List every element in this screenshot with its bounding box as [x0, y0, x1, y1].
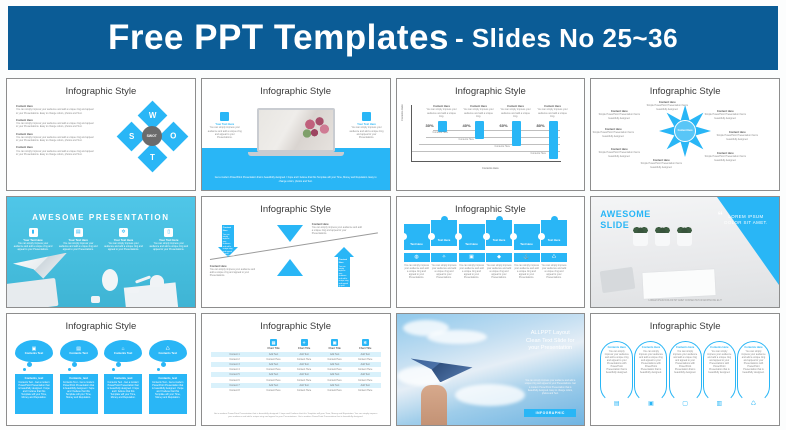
- text-block: Content Here You can simply impress your…: [16, 119, 94, 129]
- cloud-column: ▣ Contents Text Contents_text Contents T…: [15, 340, 53, 414]
- pill-body: You can simply impress your audience and…: [741, 350, 766, 375]
- plant-leaves: [655, 220, 670, 233]
- title-line-1: AWESOME: [600, 209, 651, 220]
- table-header-cell: ✲ Chart Title: [350, 338, 381, 351]
- briefcase-icon: ▮: [29, 228, 38, 237]
- chart-bar: [475, 121, 484, 139]
- swot-letter: W: [148, 111, 156, 120]
- caption-body: You can simply impress your audience and…: [210, 268, 258, 277]
- cloud-tail: [161, 362, 166, 367]
- table-header-cell: ✧ Chart Title: [289, 338, 320, 351]
- laptop-screen: [257, 108, 335, 152]
- arrow-heading: Content Here: [223, 227, 233, 234]
- piece-body: You can simply impress your audience and…: [404, 264, 430, 279]
- camera-icon: ▢: [682, 400, 688, 407]
- share-icon: ✧: [301, 339, 308, 346]
- piece-label: Text Here: [493, 239, 506, 243]
- header-label: Chart Title: [298, 347, 310, 350]
- paper-plane-photo: [13, 253, 67, 279]
- piece-body: You can simply impress your audience and…: [514, 264, 540, 279]
- content-box: Contents_text Contents Text - Get a mode…: [149, 374, 187, 414]
- chart-bar: [549, 121, 558, 159]
- mouse-photo: [102, 269, 118, 291]
- gear-icon: ✲: [119, 228, 128, 237]
- piece-label: Text Here: [465, 243, 478, 247]
- pinwheel-label: Content Here Simple PowerPoint Presentat…: [639, 159, 683, 169]
- piece-label: Text Here: [520, 243, 533, 247]
- window-icon: ▣: [331, 339, 338, 346]
- laptop-mockup: [257, 108, 335, 156]
- puzzle-piece: Text Here: [431, 220, 457, 246]
- box-body: Contents Text - Get a modern PowerPoint …: [18, 381, 50, 400]
- bar-header: Content Here You can simply impress your…: [537, 105, 569, 118]
- slide-title: Infographic Style: [202, 204, 390, 215]
- header-label: Chart Title: [267, 347, 279, 350]
- slide-thumbnail-cloud-bubbles[interactable]: Infographic Style ▣ Contents Text Conten…: [6, 313, 196, 426]
- cloud-bubble: ▣ Contents Text: [15, 340, 53, 362]
- eraser-photo: [127, 288, 139, 293]
- block-body: You can simply impress your audience and…: [16, 122, 94, 128]
- box-body: Contents Text - Get a modern PowerPoint …: [63, 381, 95, 400]
- bar-body: You can simply impress your audience and…: [426, 108, 458, 117]
- bar-header: Content Here You can simply impress your…: [500, 105, 532, 118]
- plant-leaves: [677, 220, 692, 233]
- puzzle-knob: [496, 216, 503, 223]
- label-body: Simple PowerPoint Presentation that is b…: [597, 113, 641, 119]
- slide-thumbnail-bar-chart[interactable]: Infographic Style Contents Here Contents…: [396, 78, 586, 191]
- swot-diagram: W S O T SWOT: [121, 105, 183, 167]
- puzzle-knob: [441, 216, 448, 223]
- cloud-tail-small: [23, 368, 26, 371]
- column-body: You can simply impress your audience and…: [149, 242, 189, 251]
- puzzle-notch: [538, 233, 545, 240]
- chart-y-axis: [411, 105, 412, 161]
- piece-body: You can simply impress your audience and…: [541, 264, 567, 279]
- column-body: You can simply impress your audience and…: [13, 242, 53, 251]
- data-table: ▤ Chart Title ✧ Chart Title ▣ Chart Titl…: [211, 338, 381, 393]
- table-cell: Content Here: [289, 388, 320, 393]
- pill-row: Contents Here You can simply impress you…: [600, 341, 770, 403]
- cloud-bubble: ♺ Contents Text: [149, 340, 187, 362]
- cloud-label: Contents Text: [159, 352, 177, 356]
- bag-icon: ▤: [74, 228, 83, 237]
- keyboard-photo: [6, 278, 59, 308]
- arrow-head: [334, 247, 354, 257]
- flower-photo: [301, 114, 331, 140]
- pill-shape: Contents Here You can simply impress you…: [600, 341, 633, 403]
- cloud-bubble: ▤ Contents Text: [60, 340, 98, 362]
- right-column: Your Text Here You can simply impress yo…: [350, 112, 384, 139]
- pill-column: Contents Here You can simply impress you…: [600, 341, 633, 403]
- book-icon: ▯: [164, 228, 173, 237]
- arrow-heading: Content Here: [339, 259, 349, 266]
- slide-thumbnail-grid: Infographic Style Content Here You can s…: [6, 78, 780, 426]
- pill-column: Contents Here You can simply impress you…: [634, 341, 667, 403]
- block-body: You can simply impress your audience and…: [16, 150, 94, 156]
- puzzle-piece: Text Here: [404, 224, 430, 250]
- feature-columns: ▮ Your Text Here You can simply impress …: [13, 228, 189, 252]
- bag-icon: ▥: [716, 400, 722, 407]
- laptop-base: [248, 152, 344, 156]
- pinwheel-label: Content Here Simple PowerPoint Presentat…: [591, 128, 635, 138]
- text-block: Content Here You can simply impress your…: [16, 146, 94, 156]
- cloud-column: ⌂ Contents Text Contents_text Contents T…: [104, 340, 142, 414]
- slide-thumbnail-awesome-presentation[interactable]: AWESOME PRESENTATION ▮ Your Text Here Yo…: [6, 196, 196, 309]
- chart-x-axis: [411, 161, 561, 162]
- pill-body: You can simply impress your audience and…: [604, 350, 629, 375]
- cloud-tail: [116, 362, 121, 367]
- chart-gridline: [419, 144, 560, 145]
- puzzle-notch: [455, 233, 462, 240]
- chart-bar: [512, 121, 521, 146]
- label-body: Simple PowerPoint Presentation that is b…: [597, 151, 641, 157]
- piece-body: You can simply impress your audience and…: [431, 264, 457, 279]
- cloud-row: ▣ Contents Text Contents_text Contents T…: [15, 340, 187, 414]
- header-label: Chart Title: [359, 347, 371, 350]
- label-body: Simple PowerPoint Presentation that is b…: [703, 155, 747, 161]
- bar-value-label: 40%: [463, 123, 471, 128]
- cloud-tail: [72, 362, 77, 367]
- table-row: Content 8 Content Here Content Here Cont…: [211, 388, 381, 393]
- cloud-tail-small: [112, 368, 115, 371]
- magnet-photo: [150, 275, 164, 287]
- puzzle-piece: Text Here: [514, 224, 540, 250]
- label-body: Simple PowerPoint Presentation that is b…: [715, 134, 759, 140]
- recycle-icon: ♺: [541, 253, 567, 262]
- slide-title: AWESOME SLIDE: [600, 209, 651, 231]
- quote-text: LOREM IPSUM DOLOR SIT AMET.: [719, 214, 773, 227]
- pill-body: You can simply impress your audience and…: [638, 350, 663, 375]
- table-cell: Content 8: [211, 388, 259, 393]
- slide-footer-text: LOREM IPSUM DOLOR SIT AMET CONSECTETUR A…: [591, 300, 779, 302]
- puzzle-notch: [428, 233, 435, 240]
- cloud-tail: [27, 362, 32, 367]
- slide-footer-text: Get a modern PowerPoint Presentation tha…: [212, 413, 380, 419]
- slide-title: Infographic Style: [397, 86, 585, 97]
- banner-title: Free PPT Templates: [108, 18, 449, 58]
- puzzle-notch: [400, 233, 407, 240]
- column-body: You can simply impress your audience and…: [104, 242, 144, 251]
- recycle-icon: ♺: [751, 400, 756, 407]
- text-block: Content Here You can simply impress your…: [16, 133, 94, 143]
- slide-title: Infographic Style: [397, 204, 585, 215]
- text-block: Content Here You can simply impress your…: [16, 105, 94, 115]
- pill-column: Contents Here You can simply impress you…: [737, 341, 770, 403]
- puzzle-piece: Text Here: [486, 220, 512, 246]
- column-body: You can simply impress your audience and…: [350, 126, 384, 138]
- pinwheel-label: Content Here Simple PowerPoint Presentat…: [703, 110, 747, 120]
- slide-gallery-page: Free PPT Templates - Slides No 25~36 Inf…: [0, 0, 786, 430]
- feature-column: ▮ Your Text Here You can simply impress …: [13, 228, 53, 252]
- arrow-body: You can simply impress your audience and…: [339, 266, 349, 290]
- cloud-column: ▤ Contents Text Contents_text Contents T…: [60, 340, 98, 414]
- slide-footer-text: Get a modern PowerPoint Presentation tha…: [212, 176, 380, 182]
- slide-title: Infographic Style: [202, 321, 390, 332]
- piece-label: Text Here: [438, 239, 451, 243]
- chart-gridline: [433, 130, 560, 131]
- box-body: Contents Text - Get a modern PowerPoint …: [107, 381, 139, 400]
- table-cell: Content Here: [319, 388, 350, 393]
- cloud-tail-small: [157, 368, 160, 371]
- table-cell: Content Here: [258, 388, 289, 393]
- feature-column: ▤ Your Text Here You can simply impress …: [58, 228, 98, 252]
- label-body: Simple PowerPoint Presentation that is b…: [703, 113, 747, 119]
- triangle-up: [277, 259, 303, 276]
- share-icon: [362, 112, 371, 121]
- bar-header: Content Here You can simply impress your…: [426, 105, 458, 118]
- bar-value-label: 60%: [500, 123, 508, 128]
- cloud-tail-small: [68, 368, 71, 371]
- slide-title: Infographic Style: [202, 86, 390, 97]
- briefcase-icon: ▤: [614, 400, 620, 407]
- pill-column: Contents Here You can simply impress you…: [703, 341, 736, 403]
- tag-icon: ◆: [486, 253, 512, 262]
- bar-header: Content Here You can simply impress your…: [463, 105, 495, 118]
- triangle-down: [277, 225, 303, 242]
- swot-letter: O: [170, 132, 176, 141]
- pinwheel-label: Content Here Simple PowerPoint Presentat…: [597, 148, 641, 158]
- swot-letter: T: [150, 153, 155, 162]
- block-body: You can simply impress your audience and…: [16, 108, 94, 114]
- header-label: Chart Title: [328, 347, 340, 350]
- content-box: Contents_text Contents Text - Get a mode…: [15, 374, 53, 414]
- slide-headline: ALLPPT Layout Clean Text Slide for your …: [524, 330, 576, 352]
- label-body: Simple PowerPoint Presentation that is b…: [645, 104, 689, 110]
- puzzle-row: Text Here Text Here Text Here Text Here: [404, 224, 569, 250]
- piece-body: You can simply impress your audience and…: [486, 264, 512, 279]
- plant-pot: [655, 231, 670, 246]
- slide-thumbnail-paper-plane-sky[interactable]: ALLPPT Layout Clean Text Slide for your …: [396, 313, 586, 426]
- slide-thumbnail-laptop-photo[interactable]: Infographic Style Your Text Here You can…: [201, 78, 391, 191]
- plant-pot: [677, 231, 692, 246]
- pinwheel-label: Content Here Simple PowerPoint Presentat…: [715, 131, 759, 141]
- puzzle-notch: [483, 233, 490, 240]
- cloud-label: Contents Text: [114, 352, 132, 356]
- gear-icon: ✲: [362, 339, 369, 346]
- slide-title: Infographic Style: [7, 86, 195, 97]
- arrow-right-caption: Content Here You can simply impress your…: [312, 223, 362, 236]
- pill-shape: Contents Here You can simply impress you…: [634, 341, 667, 403]
- anchor-icon: ⚓: [514, 253, 540, 262]
- cloud-column: ♺ Contents Text Contents_text Contents T…: [149, 340, 187, 414]
- pill-body: You can simply impress your audience and…: [673, 350, 698, 375]
- notebook-photo: [643, 269, 716, 299]
- slide-title: Infographic Style: [591, 321, 779, 332]
- chart-gridline: [426, 137, 560, 138]
- content-box: Contents_text Contents Text - Get a mode…: [60, 374, 98, 414]
- infographic-button[interactable]: INFOGRAPHIC: [524, 409, 576, 417]
- globe-icon: ◍: [404, 253, 430, 262]
- puzzle-icon-row: ◍ ✧ ▣ ◆ ⚓ ♺: [404, 253, 569, 262]
- piece-label: Text Here: [548, 239, 561, 243]
- chart-ylabel: Contents Here: [401, 104, 404, 121]
- slide-thumbnail-data-table[interactable]: Infographic Style ▤ Chart Title ✧ Chart …: [201, 313, 391, 426]
- up-arrow-right: Content Here You can simply impress your…: [334, 247, 354, 287]
- caption-body: You can simply impress your audience and…: [312, 226, 362, 235]
- slide-thumbnail-swot-diamond[interactable]: Infographic Style Content Here You can s…: [6, 78, 196, 191]
- pinwheel-label: Content Here Simple PowerPoint Presentat…: [645, 101, 689, 111]
- swot-center-circle: SWOT: [142, 126, 162, 146]
- table-header-row: ▤ Chart Title ✧ Chart Title ▣ Chart Titl…: [211, 338, 381, 351]
- pill-shape: Contents Here You can simply impress you…: [669, 341, 702, 403]
- pill-body: You can simply impress your audience and…: [707, 350, 732, 375]
- swot-threat-diamond: T: [137, 143, 167, 173]
- pinwheel-label: Content Here Simple PowerPoint Presentat…: [703, 152, 747, 162]
- cyan-diagonal-overlay: [717, 197, 779, 285]
- box-body: Contents Text - Get a modern PowerPoint …: [152, 381, 184, 400]
- bar-value-label: 80%: [537, 123, 545, 128]
- pill-column: Contents Here You can simply impress you…: [669, 341, 702, 403]
- down-arrow-left: Content Here You can simply impress your…: [218, 225, 238, 257]
- swot-opportunity-diamond: O: [158, 122, 188, 152]
- bar-caption: Contents Here: [433, 131, 448, 134]
- bar-body: You can simply impress your audience and…: [500, 108, 532, 117]
- bar-body: You can simply impress your audience and…: [463, 108, 495, 117]
- block-body: You can simply impress your audience and…: [16, 136, 94, 142]
- window-icon: ▣: [459, 253, 485, 262]
- swot-letter: S: [129, 132, 134, 141]
- window-icon: ▣: [648, 400, 654, 407]
- bar-caption: Contents Here: [495, 145, 510, 148]
- table-header-cell: ▣ Chart Title: [319, 338, 350, 351]
- slide-thumbnail-puzzle[interactable]: Infographic Style Text Here Text Here Te…: [396, 196, 586, 309]
- puzzle-piece: Text Here: [459, 224, 485, 250]
- slide-title: AWESOME PRESENTATION: [7, 213, 195, 222]
- share-icon: ✧: [431, 253, 457, 262]
- cloud-label: Contents Text: [25, 352, 43, 356]
- puzzle-knob: [551, 216, 558, 223]
- slide-thumbnail-pill-columns[interactable]: Infographic Style Contents Here You can …: [590, 313, 780, 426]
- pen-photo: [135, 276, 151, 284]
- book-icon: ▤: [270, 339, 277, 346]
- table-cell: Content Here: [350, 388, 381, 393]
- cloud-label: Contents Text: [69, 352, 87, 356]
- bar-value-label: 30%: [426, 123, 434, 128]
- content-box: Contents_text Contents Text - Get a mode…: [104, 374, 142, 414]
- slide-thumbnail-awesome-slide[interactable]: AWESOME SLIDE “ LOREM IPSUM DOLOR SIT AM…: [590, 196, 780, 309]
- clip-photo: [91, 296, 100, 303]
- table-header-cell: ▤ Chart Title: [258, 338, 289, 351]
- pinwheel-label: Content Here Simple PowerPoint Presentat…: [597, 110, 641, 120]
- piece-label: Text Here: [410, 243, 423, 247]
- pill-shape: Contents Here You can simply impress you…: [703, 341, 736, 403]
- column-body: You can simply impress your audience and…: [58, 242, 98, 251]
- puzzle-notch: [510, 233, 517, 240]
- puzzle-piece: Text Here: [541, 220, 567, 246]
- label-body: Simple PowerPoint Presentation that is b…: [591, 131, 635, 137]
- swot-text-column: Content Here You can simply impress your…: [16, 105, 94, 160]
- column-body: You can simply impress your audience and…: [208, 126, 242, 138]
- hand-photo: [421, 385, 447, 426]
- arrow-left-caption: Content Here You can simply impress your…: [210, 265, 258, 278]
- feature-column: ✲ Your Text Here You can simply impress …: [104, 228, 144, 252]
- feature-column: ▯ Your Text Here You can simply impress …: [149, 228, 189, 252]
- center-label: Content Here: [678, 129, 693, 133]
- puzzle-text-row: You can simply impress your audience and…: [404, 264, 569, 279]
- slide-thumbnail-arrows-balance[interactable]: Infographic Style Content Here You can s…: [201, 196, 391, 309]
- title-line-2: SLIDE: [600, 220, 651, 231]
- cloud-bubble: ⌂ Contents Text: [104, 340, 142, 362]
- bar-caption: Contents Here: [459, 138, 474, 141]
- piece-body: You can simply impress your audience and…: [459, 264, 485, 279]
- header-banner: Free PPT Templates - Slides No 25~36: [8, 6, 778, 70]
- plant-pot: [633, 231, 648, 246]
- banner-subtitle: - Slides No 25~36: [455, 23, 678, 54]
- label-body: Simple PowerPoint Presentation that is b…: [639, 162, 683, 168]
- pill-shape: Contents Here You can simply impress you…: [737, 341, 770, 403]
- left-column: Your Text Here You can simply impress yo…: [208, 112, 242, 139]
- bar-body: You can simply impress your audience and…: [537, 108, 569, 117]
- table-header-cell: [211, 338, 259, 351]
- slide-body-text: You can simply impress your audience and…: [524, 380, 576, 395]
- bar-caption: Contents Here: [531, 152, 546, 155]
- monitor-icon: [220, 112, 229, 121]
- pinwheel-center: Content Here: [674, 120, 696, 142]
- slide-title: Infographic Style: [7, 321, 195, 332]
- chart-xlabel: Contents Here: [397, 167, 585, 170]
- slide-thumbnail-pinwheel[interactable]: Infographic Style Content Here Content H…: [590, 78, 780, 191]
